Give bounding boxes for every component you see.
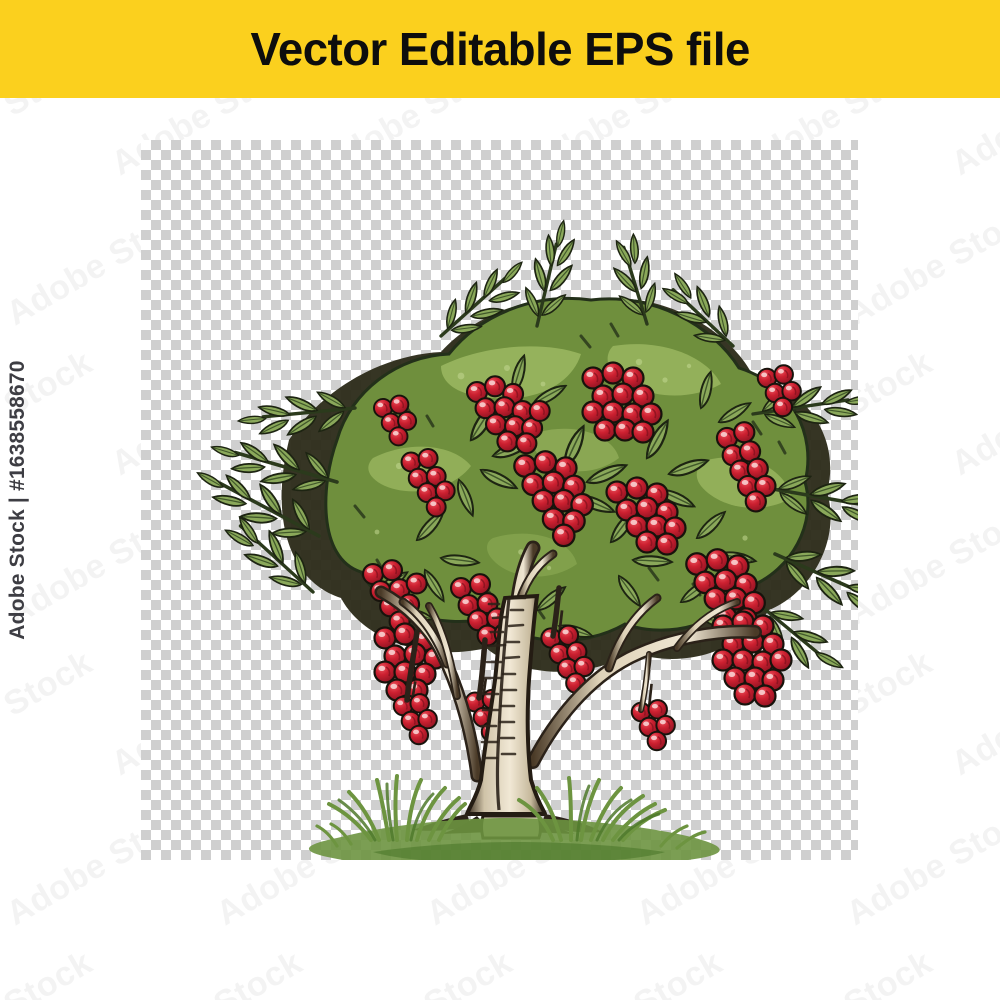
banner-title: Vector Editable EPS file xyxy=(250,26,749,72)
watermark-text: Adobe Stock xyxy=(105,943,309,1000)
watermark-text: Adobe Stock xyxy=(840,793,1000,933)
tree-illustration xyxy=(141,140,858,860)
watermark-text: Adobe Stock xyxy=(840,493,1000,633)
watermark-text: Adobe Stock xyxy=(840,193,1000,333)
watermark-text: Adobe Stock xyxy=(525,943,729,1000)
watermark-text: Adobe Stock xyxy=(945,343,1000,483)
screenshot-stage: Adobe StockAdobe StockAdobe StockAdobe S… xyxy=(0,0,1000,1000)
watermark-text: Adobe Stock xyxy=(945,643,1000,783)
banner: Vector Editable EPS file xyxy=(0,0,1000,98)
stock-id-caption: Adobe Stock | #1638558670 xyxy=(6,360,30,639)
watermark-text: Adobe Stock xyxy=(0,943,99,1000)
watermark-text: Adobe Stock xyxy=(315,943,519,1000)
watermark-text: Adobe Stock xyxy=(735,943,939,1000)
watermark-text: Adobe Stock xyxy=(0,643,99,783)
watermark-text: Adobe Stock xyxy=(945,943,1000,1000)
